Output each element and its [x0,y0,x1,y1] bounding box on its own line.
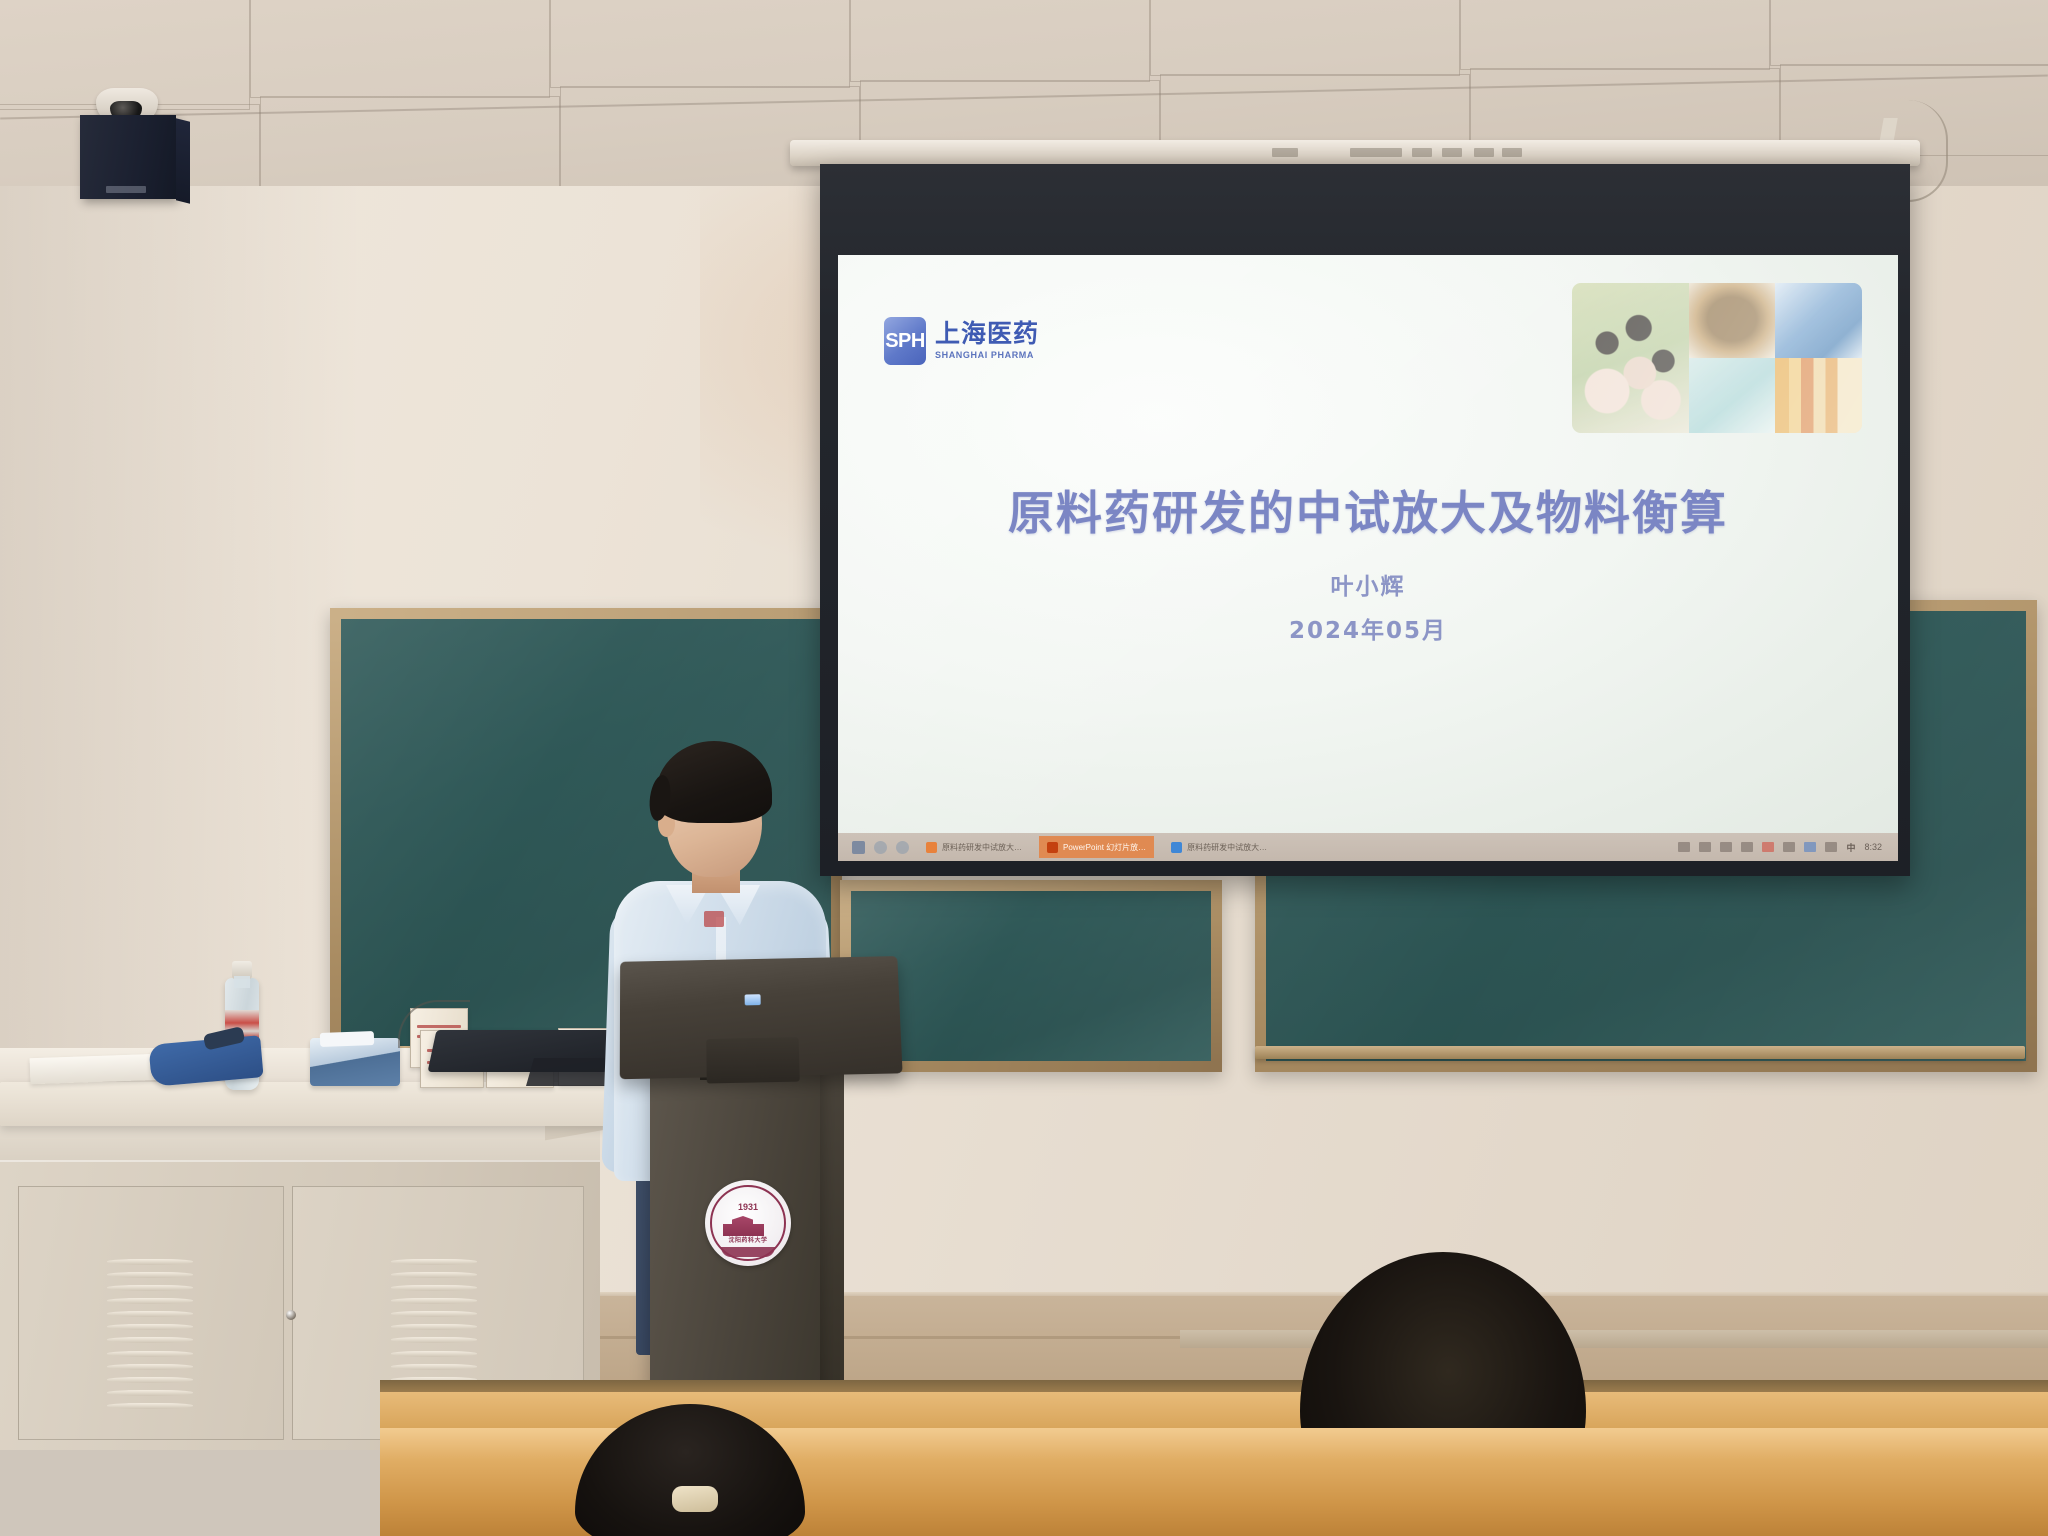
podium-monitor[interactable] [620,956,903,1079]
slide-date: 2024年05月 [838,611,1898,645]
mail-icon[interactable] [1720,842,1732,852]
lecture-hall-photo: SPH 上海医药 SHANGHAI PHARMA 原料药研发的中试放大及物料衡算… [0,0,2048,1536]
speaker-side [176,118,190,203]
collage-overlay [1572,283,1862,433]
taskbar-item-label: PowerPoint 幻灯片放… [1063,842,1146,853]
recording-icon[interactable] [1762,842,1774,852]
taskbar-item-edge[interactable]: 原料药研发中试放大… [1163,836,1275,858]
battery-icon[interactable] [1825,842,1837,852]
slide-title: 原料药研发的中试放大及物料衡算 [838,477,1898,543]
taskbar-item-powerpoint[interactable]: PowerPoint 幻灯片放… [1039,836,1154,858]
windows-taskbar[interactable]: 原料药研发中试放大… PowerPoint 幻灯片放… 原料药研发中试放大… 中… [838,833,1898,861]
projection-screen-housing [790,140,1920,166]
system-tray: 中 8:32 [1678,841,1898,854]
sph-logo: SPH 上海医药 SHANGHAI PHARMA [884,317,1039,365]
pen-icon[interactable] [1699,842,1711,852]
presenter-chest-detail [704,911,724,927]
monitor-mount [706,1037,800,1083]
presenter-hair [656,741,772,823]
search-icon[interactable] [874,841,887,854]
speaker-badge [106,186,146,193]
clock[interactable]: 8:32 [1864,842,1882,852]
emblem-ribbon [721,1247,775,1257]
wall-speaker [80,115,176,199]
ime-indicator[interactable]: 中 [1846,841,1855,854]
slide-author: 叶小辉 [838,567,1898,601]
edge-icon [1171,842,1182,853]
sph-logo-text: 上海医药 SHANGHAI PHARMA [935,322,1039,360]
show-hidden-icons-icon[interactable] [1678,842,1690,852]
emblem-chinese-name: 沈阳药科大学 [705,1235,791,1244]
sph-english-name: SHANGHAI PHARMA [935,351,1039,360]
taskbar-item-label: 原料药研发中试放大… [1187,842,1267,853]
tissue-box [310,1038,400,1086]
vent-icon [107,1259,193,1409]
cabinet-door-left[interactable] [18,1186,284,1440]
slide-photo-collage [1572,283,1862,433]
papers [30,1054,161,1085]
taskbar-left-group: 原料药研发中试放大… PowerPoint 幻灯片放… 原料药研发中试放大… [838,836,1275,858]
display-icon[interactable] [1741,842,1753,852]
browser-icon [926,842,937,853]
power-led-icon [745,994,761,1005]
network-icon[interactable] [1783,842,1795,852]
sph-mark-icon: SPH [884,317,926,365]
taskbar-item-label: 原料药研发中试放大… [942,842,1022,853]
cloud-icon[interactable] [1804,842,1816,852]
powerpoint-icon [1047,842,1058,853]
sph-mark-text: SPH [885,330,925,353]
start-button-icon[interactable] [852,841,865,854]
taskbar-item-browser[interactable]: 原料药研发中试放大… [918,836,1030,858]
wall-baseboard [1180,1330,2048,1348]
bottle-neck [234,976,250,988]
powerpoint-slide: SPH 上海医药 SHANGHAI PHARMA 原料药研发的中试放大及物料衡算… [838,255,1898,835]
emblem-year: 1931 [705,1202,791,1212]
cabinet-lock-icon[interactable] [286,1310,296,1320]
sph-chinese-name: 上海医药 [935,322,1039,347]
chalk-rail-right [1255,1046,2025,1059]
task-view-icon[interactable] [896,841,909,854]
teacher-desk-top [0,1082,610,1126]
hair-tie [672,1486,718,1512]
university-emblem: 1931 沈阳药科大学 [705,1180,791,1266]
